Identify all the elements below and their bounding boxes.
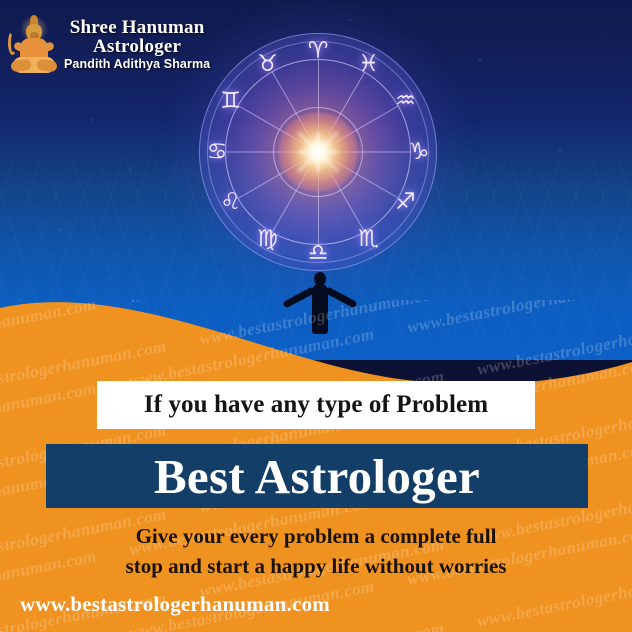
brand-subtitle: Pandith Adithya Sharma <box>64 58 210 71</box>
hanuman-deity-icon <box>8 13 60 75</box>
zodiac-sign-aries-icon: ♈ <box>301 34 335 68</box>
tagline-line2: stop and start a happy life without worr… <box>66 552 566 582</box>
zodiac-sign-sagittarius-icon: ♐ <box>388 186 422 220</box>
zodiac-sign-aquarius-icon: ♒ <box>388 85 422 119</box>
zodiac-sign-gemini-icon: ♊ <box>214 85 248 119</box>
zodiac-sign-capricorn-icon: ♑ <box>402 135 436 169</box>
tagline-line1: Give your every problem a complete full <box>66 522 566 552</box>
zodiac-sign-libra-icon: ♎ <box>301 236 335 270</box>
zodiac-sign-pisces-icon: ♓ <box>352 48 386 82</box>
zodiac-sign-scorpio-icon: ♏ <box>352 222 386 256</box>
brand-logo[interactable]: Shree Hanuman Astrologer Pandith Adithya… <box>8 8 213 80</box>
zodiac-sign-virgo-icon: ♍ <box>251 222 285 256</box>
wheel-center-starburst-icon <box>298 132 338 172</box>
astrologer-poster: ♈♓♒♑♐♏♎♍♌♋♊♉ Shree Hanuman Astrologer Pa… <box>0 0 632 632</box>
zodiac-sign-taurus-icon: ♉ <box>251 48 285 82</box>
website-url[interactable]: www.bestastrologerhanuman.com <box>20 592 440 617</box>
zodiac-wheel: ♈♓♒♑♐♏♎♍♌♋♊♉ <box>199 33 437 271</box>
brand-logo-text: Shree Hanuman Astrologer Pandith Adithya… <box>64 18 210 71</box>
brand-name-line1: Shree Hanuman <box>70 18 205 37</box>
headline-band: Best Astrologer <box>46 444 588 508</box>
zodiac-sign-leo-icon: ♌ <box>214 186 248 220</box>
tagline-block: Give your every problem a complete full … <box>66 522 566 582</box>
headline-text: Best Astrologer <box>154 448 480 505</box>
kicker-band: If you have any type of Problem <box>97 381 535 429</box>
kicker-text: If you have any type of Problem <box>144 391 488 419</box>
zodiac-sign-cancer-icon: ♋ <box>200 135 234 169</box>
brand-name-line2: Astrologer <box>93 37 181 56</box>
